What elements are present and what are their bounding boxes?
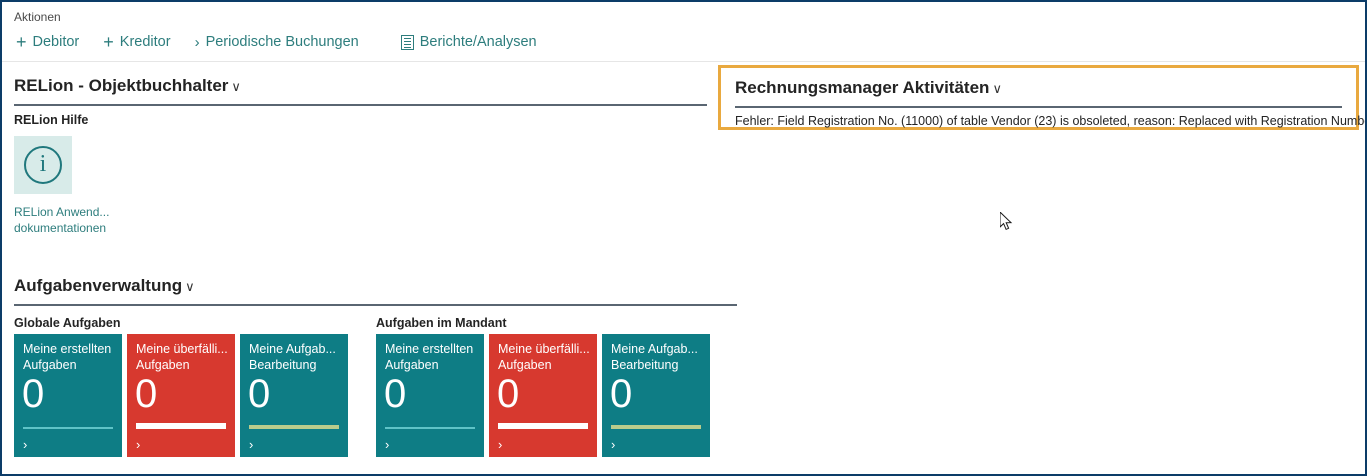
relion-documentation-link-line2: dokumentationen bbox=[14, 220, 109, 236]
tile-global-created-tasks[interactable]: Meine erstellten Aufgaben 0 › bbox=[14, 334, 122, 457]
relion-documentation-link[interactable]: RELion Anwend... dokumentationen bbox=[14, 204, 109, 236]
task-group-labels: Globale Aufgaben Aufgaben im Mandant bbox=[2, 316, 762, 334]
chevron-down-icon[interactable]: ∨ bbox=[992, 81, 1002, 97]
relion-help-tile[interactable]: i bbox=[14, 136, 72, 194]
tile-global-overdue-tasks[interactable]: Meine überfälli... Aufgaben 0 › bbox=[127, 334, 235, 457]
task-management-divider bbox=[14, 304, 737, 306]
task-management-title-label: Aufgabenverwaltung bbox=[14, 276, 182, 296]
task-groups: Globale Aufgaben Aufgaben im Mandant Mei… bbox=[2, 316, 762, 459]
task-management-section: Aufgabenverwaltung ∨ Globale Aufgaben Au… bbox=[2, 262, 762, 449]
action-periodische-buchungen[interactable]: › Periodische Buchungen bbox=[191, 32, 363, 52]
invoice-manager-panel: Rechnungsmanager Aktivitäten ∨ Fehler: F… bbox=[718, 65, 1359, 130]
role-center-column: RELion - Objektbuchhalter ∨ RELion Hilfe… bbox=[2, 62, 712, 236]
role-center-divider bbox=[14, 104, 707, 106]
chevron-right-icon[interactable]: › bbox=[249, 438, 253, 451]
chevron-down-icon[interactable]: ∨ bbox=[185, 279, 195, 295]
tile-progress-bar bbox=[611, 425, 701, 429]
tile-value: 0 bbox=[135, 374, 157, 414]
ribbon-caption: Aktionen bbox=[14, 10, 61, 24]
chevron-right-icon[interactable]: › bbox=[385, 438, 389, 451]
action-berichte-analysen-label: Berichte/Analysen bbox=[420, 34, 537, 50]
group-label-mandant: Aufgaben im Mandant bbox=[376, 316, 507, 330]
tile-mandant-created-tasks[interactable]: Meine erstellten Aufgaben 0 › bbox=[376, 334, 484, 457]
tile-global-tasks-in-progress[interactable]: Meine Aufgab... Bearbeitung 0 › bbox=[240, 334, 348, 457]
role-center-title-label: RELion - Objektbuchhalter bbox=[14, 76, 228, 96]
chevron-right-icon: › bbox=[195, 35, 200, 50]
relion-help-heading: RELion Hilfe bbox=[14, 113, 712, 127]
mouse-pointer-icon bbox=[1000, 212, 1014, 232]
tile-label: Meine erstellten Aufgaben bbox=[385, 342, 478, 373]
tile-progress-bar bbox=[136, 423, 226, 429]
tile-label: Meine erstellten Aufgaben bbox=[23, 342, 116, 373]
relion-documentation-link-line1: RELion Anwend... bbox=[14, 204, 109, 220]
role-center-title[interactable]: RELion - Objektbuchhalter ∨ bbox=[2, 62, 241, 96]
tile-progress-bar bbox=[498, 423, 588, 429]
tile-progress-bar bbox=[385, 427, 475, 429]
invoice-manager-title-label: Rechnungsmanager Aktivitäten bbox=[735, 78, 989, 98]
tile-progress-bar bbox=[23, 427, 113, 429]
application-window: Aktionen + Debitor + Kreditor › Periodis… bbox=[0, 0, 1367, 476]
action-periodische-buchungen-label: Periodische Buchungen bbox=[206, 34, 359, 50]
ribbon-action-list: + Debitor + Kreditor › Periodische Buchu… bbox=[12, 31, 541, 53]
action-debitor[interactable]: + Debitor bbox=[12, 31, 83, 53]
tile-value: 0 bbox=[610, 374, 632, 414]
action-kreditor[interactable]: + Kreditor bbox=[99, 31, 174, 53]
action-debitor-label: Debitor bbox=[33, 34, 80, 50]
chevron-right-icon[interactable]: › bbox=[136, 438, 140, 451]
chevron-right-icon[interactable]: › bbox=[611, 438, 615, 451]
tile-label: Meine überfälli... Aufgaben bbox=[498, 342, 591, 373]
chevron-right-icon[interactable]: › bbox=[23, 438, 27, 451]
task-management-title[interactable]: Aufgabenverwaltung ∨ bbox=[2, 262, 195, 296]
tile-label: Meine Aufgab... Bearbeitung bbox=[611, 342, 704, 373]
tile-mandant-overdue-tasks[interactable]: Meine überfälli... Aufgaben 0 › bbox=[489, 334, 597, 457]
tile-mandant-tasks-in-progress[interactable]: Meine Aufgab... Bearbeitung 0 › bbox=[602, 334, 710, 457]
chevron-down-icon[interactable]: ∨ bbox=[231, 79, 241, 95]
task-tiles-row: Meine erstellten Aufgaben 0 › Meine über… bbox=[2, 334, 762, 459]
tile-progress-bar bbox=[249, 425, 339, 429]
invoice-manager-title[interactable]: Rechnungsmanager Aktivitäten ∨ bbox=[721, 68, 1002, 98]
tile-value: 0 bbox=[22, 374, 44, 414]
actions-ribbon: Aktionen + Debitor + Kreditor › Periodis… bbox=[2, 2, 1365, 62]
chevron-right-icon[interactable]: › bbox=[498, 438, 502, 451]
tile-label: Meine Aufgab... Bearbeitung bbox=[249, 342, 342, 373]
action-kreditor-label: Kreditor bbox=[120, 34, 171, 50]
plus-icon: + bbox=[103, 33, 114, 51]
error-message: Fehler: Field Registration No. (11000) o… bbox=[721, 108, 1356, 128]
report-icon bbox=[401, 35, 414, 50]
plus-icon: + bbox=[16, 33, 27, 51]
tile-label: Meine überfälli... Aufgaben bbox=[136, 342, 229, 373]
action-berichte-analysen[interactable]: Berichte/Analysen bbox=[397, 32, 541, 52]
tile-value: 0 bbox=[384, 374, 406, 414]
tile-value: 0 bbox=[248, 374, 270, 414]
info-circle-icon: i bbox=[24, 146, 62, 184]
group-label-global: Globale Aufgaben bbox=[14, 316, 121, 330]
tile-value: 0 bbox=[497, 374, 519, 414]
